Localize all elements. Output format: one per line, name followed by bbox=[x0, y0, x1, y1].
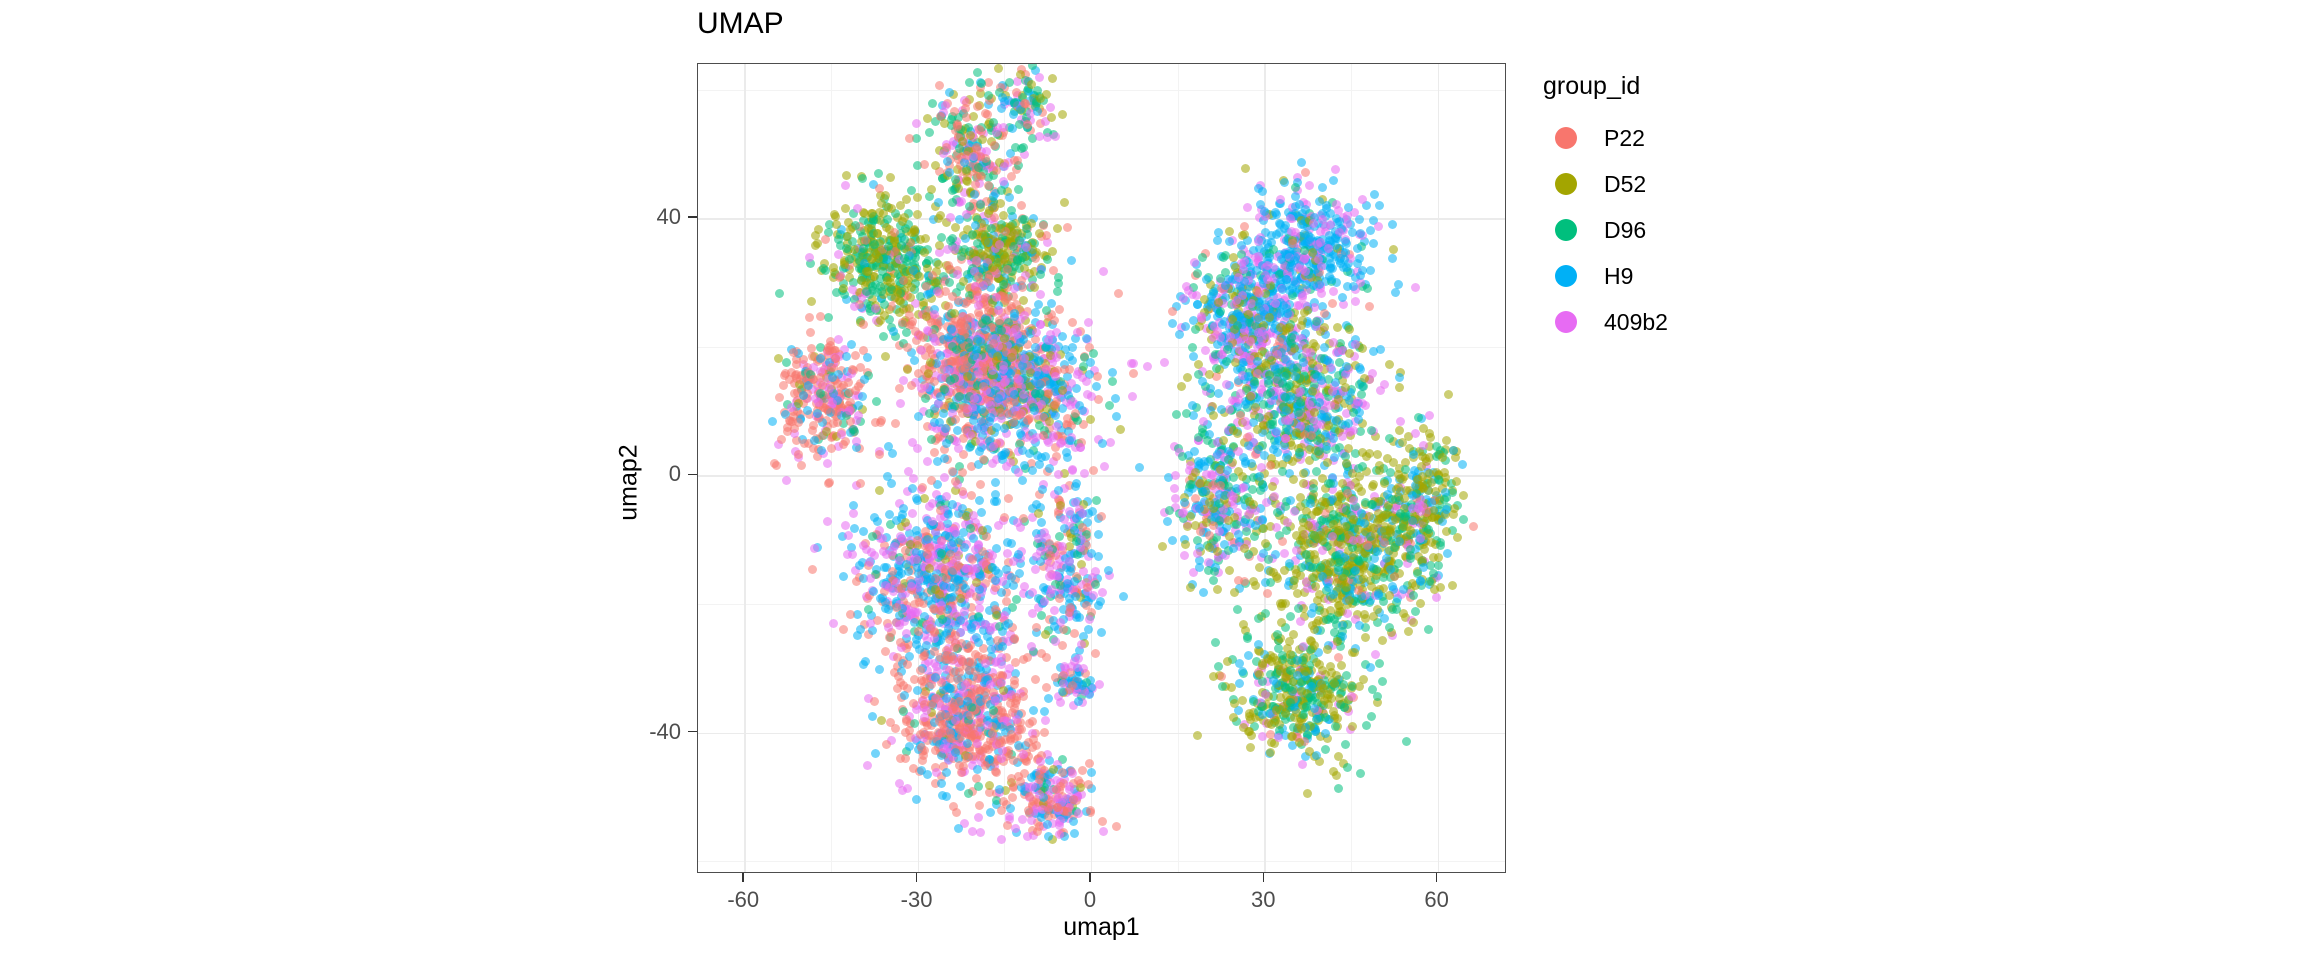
scatter-point bbox=[986, 808, 995, 817]
scatter-point bbox=[1018, 476, 1027, 485]
scatter-point bbox=[1010, 680, 1019, 689]
scatter-point bbox=[1023, 416, 1032, 425]
scatter-point bbox=[1097, 628, 1106, 637]
scatter-point bbox=[1014, 468, 1023, 477]
scatter-point bbox=[1012, 595, 1021, 604]
scatter-point bbox=[868, 712, 877, 721]
scatter-point bbox=[923, 770, 932, 779]
scatter-point bbox=[968, 555, 977, 564]
scatter-point bbox=[992, 128, 1001, 137]
scatter-point bbox=[977, 508, 986, 517]
scatter-point bbox=[1045, 380, 1054, 389]
scatter-point bbox=[1003, 717, 1012, 726]
scatter-point bbox=[854, 401, 863, 410]
scatter-point bbox=[970, 190, 979, 199]
scatter-point bbox=[912, 795, 921, 804]
scatter-point bbox=[940, 119, 949, 128]
scatter-point bbox=[803, 406, 812, 415]
scatter-point bbox=[1086, 358, 1095, 367]
scatter-point bbox=[1040, 528, 1049, 537]
scatter-point bbox=[908, 438, 917, 447]
scatter-point bbox=[794, 399, 803, 408]
scatter-point bbox=[942, 694, 951, 703]
scatter-point bbox=[775, 393, 784, 402]
scatter-point bbox=[1094, 601, 1103, 610]
scatter-point bbox=[903, 660, 912, 669]
scatter-point bbox=[931, 278, 940, 287]
scatter-point bbox=[1065, 352, 1074, 361]
scatter-point bbox=[849, 509, 858, 518]
scatter-point bbox=[984, 181, 993, 190]
scatter-point bbox=[782, 476, 791, 485]
scatter-point bbox=[1053, 224, 1062, 233]
scatter-point bbox=[1056, 501, 1065, 510]
scatter-point bbox=[1053, 803, 1062, 812]
scatter-point bbox=[1085, 759, 1094, 768]
scatter-point bbox=[1058, 542, 1067, 551]
scatter-point bbox=[827, 444, 836, 453]
scatter-point bbox=[925, 128, 934, 137]
scatter-point bbox=[1013, 374, 1022, 383]
scatter-point bbox=[927, 185, 936, 194]
scatter-point bbox=[1051, 400, 1060, 409]
scatter-point bbox=[956, 782, 965, 791]
scatter-point bbox=[868, 282, 877, 291]
scatter-point bbox=[909, 266, 918, 275]
scatter-point bbox=[845, 406, 854, 415]
scatter-point bbox=[988, 551, 997, 560]
scatter-point bbox=[1003, 538, 1012, 547]
scatter-point bbox=[811, 241, 820, 250]
scatter-point bbox=[990, 141, 999, 150]
scatter-point bbox=[937, 779, 946, 788]
scatter-point bbox=[973, 739, 982, 748]
scatter-point bbox=[1044, 389, 1053, 398]
scatter-point bbox=[956, 319, 965, 328]
scatter-point bbox=[913, 193, 922, 202]
scatter-point bbox=[994, 64, 1003, 73]
scatter-point bbox=[1331, 165, 1340, 174]
scatter-point bbox=[896, 201, 905, 210]
scatter-point bbox=[866, 574, 875, 583]
scatter-point bbox=[931, 694, 940, 703]
scatter-point bbox=[1006, 804, 1015, 813]
scatter-point bbox=[1275, 219, 1284, 228]
scatter-point bbox=[1301, 168, 1310, 177]
scatter-point bbox=[944, 712, 953, 721]
scatter-point bbox=[998, 642, 1007, 651]
scatter-point bbox=[1071, 482, 1080, 491]
scatter-point bbox=[1040, 707, 1049, 716]
scatter-point bbox=[1068, 397, 1077, 406]
scatter-point bbox=[870, 697, 879, 706]
scatter-point bbox=[890, 542, 899, 551]
scatter-point bbox=[986, 626, 995, 635]
scatter-point bbox=[886, 278, 895, 287]
scatter-point bbox=[896, 399, 905, 408]
scatter-point bbox=[1003, 265, 1012, 274]
scatter-point bbox=[899, 707, 908, 716]
scatter-point bbox=[844, 531, 853, 540]
scatter-point bbox=[923, 457, 932, 466]
scatter-point bbox=[1411, 283, 1420, 292]
scatter-point bbox=[900, 254, 909, 263]
scatter-point bbox=[1083, 583, 1092, 592]
scatter-point bbox=[1000, 334, 1009, 343]
scatter-point bbox=[1105, 401, 1114, 410]
scatter-point bbox=[1369, 239, 1378, 248]
scatter-point bbox=[881, 191, 890, 200]
scatter-point bbox=[998, 93, 1007, 102]
scatter-point bbox=[882, 740, 891, 749]
scatter-point bbox=[887, 479, 896, 488]
scatter-point bbox=[794, 418, 803, 427]
scatter-point bbox=[991, 696, 1000, 705]
scatter-point bbox=[1065, 436, 1074, 445]
scatter-point bbox=[1010, 284, 1019, 293]
scatter-point bbox=[901, 754, 910, 763]
scatter-point bbox=[1036, 94, 1045, 103]
scatter-point bbox=[1074, 697, 1083, 706]
scatter-point bbox=[1031, 308, 1040, 317]
scatter-point bbox=[918, 483, 927, 492]
scatter-point bbox=[951, 415, 960, 424]
scatter-point bbox=[961, 104, 970, 113]
scatter-point bbox=[925, 502, 934, 511]
scatter-point bbox=[874, 169, 883, 178]
scatter-point bbox=[851, 351, 860, 360]
scatter-point bbox=[1028, 717, 1037, 726]
scatter-point bbox=[1069, 817, 1078, 826]
scatter-point bbox=[877, 716, 886, 725]
scatter-point bbox=[912, 119, 921, 128]
scatter-point bbox=[978, 319, 987, 328]
scatter-point bbox=[1031, 675, 1040, 684]
scatter-point bbox=[1000, 513, 1009, 522]
scatter-point bbox=[879, 332, 888, 341]
scatter-point bbox=[863, 761, 872, 770]
scatter-point bbox=[876, 594, 885, 603]
scatter-point bbox=[976, 828, 985, 837]
scatter-point bbox=[1068, 466, 1077, 475]
scatter-point bbox=[981, 109, 990, 118]
scatter-point bbox=[832, 407, 841, 416]
scatter-point bbox=[881, 352, 890, 361]
scatter-point bbox=[902, 328, 911, 337]
scatter-point bbox=[997, 835, 1006, 844]
scatter-point bbox=[1329, 287, 1338, 296]
scatter-point bbox=[956, 616, 965, 625]
scatter-point bbox=[1315, 197, 1324, 206]
scatter-point bbox=[1060, 365, 1069, 374]
scatter-point bbox=[810, 436, 819, 445]
scatter-point bbox=[997, 754, 1006, 763]
scatter-point bbox=[984, 307, 993, 316]
scatter-point bbox=[1089, 349, 1098, 358]
scatter-point bbox=[991, 767, 1000, 776]
scatter-point bbox=[1099, 267, 1108, 276]
scatter-point bbox=[834, 335, 843, 344]
scatter-point bbox=[930, 310, 939, 319]
scatter-point bbox=[1023, 120, 1032, 129]
scatter-point bbox=[963, 739, 972, 748]
scatter-point bbox=[991, 576, 1000, 585]
scatter-point bbox=[1015, 569, 1024, 578]
scatter-point bbox=[945, 88, 954, 97]
scatter-point bbox=[1058, 332, 1067, 341]
scatter-point bbox=[1078, 766, 1087, 775]
scatter-point bbox=[928, 517, 937, 526]
scatter-point bbox=[963, 297, 972, 306]
scatter-point bbox=[1044, 694, 1053, 703]
scatter-point bbox=[1016, 70, 1025, 79]
scatter-point bbox=[1023, 832, 1032, 841]
scatter-point bbox=[1071, 409, 1080, 418]
scatter-point bbox=[913, 210, 922, 219]
scatter-point bbox=[1080, 469, 1089, 478]
scatter-point bbox=[1374, 222, 1383, 231]
scatter-point bbox=[942, 143, 951, 152]
scatter-point bbox=[900, 691, 909, 700]
scatter-point bbox=[974, 369, 983, 378]
scatter-point bbox=[991, 478, 1000, 487]
scatter-point bbox=[1054, 279, 1063, 288]
scatter-point bbox=[1053, 287, 1062, 296]
scatter-point bbox=[987, 224, 996, 233]
scatter-point bbox=[898, 786, 907, 795]
scatter-point bbox=[944, 333, 953, 342]
scatter-point bbox=[1098, 817, 1107, 826]
scatter-point bbox=[956, 335, 965, 344]
scatter-point bbox=[829, 619, 838, 628]
scatter-point bbox=[937, 537, 946, 546]
scatter-point bbox=[888, 449, 897, 458]
scatter-point bbox=[1025, 792, 1034, 801]
scatter-point bbox=[1082, 377, 1091, 386]
scatter-point bbox=[905, 311, 914, 320]
scatter-point bbox=[1070, 829, 1079, 838]
scatter-point bbox=[1028, 63, 1037, 70]
scatter-point bbox=[1029, 735, 1038, 744]
scatter-point bbox=[967, 491, 976, 500]
scatter-point bbox=[975, 801, 984, 810]
scatter-point bbox=[1305, 181, 1314, 190]
scatter-point bbox=[923, 114, 932, 123]
scatter-point bbox=[1116, 425, 1125, 434]
scatter-point bbox=[775, 289, 784, 298]
scatter-point bbox=[897, 584, 906, 593]
scatter-point bbox=[1070, 629, 1079, 638]
scatter-point bbox=[1017, 725, 1026, 734]
scatter-point bbox=[918, 756, 927, 765]
scatter-point bbox=[808, 565, 817, 574]
scatter-point bbox=[1050, 316, 1059, 325]
scatter-point bbox=[1050, 622, 1059, 631]
scatter-point bbox=[1098, 588, 1107, 597]
scatter-point bbox=[1119, 592, 1128, 601]
scatter-point bbox=[825, 478, 834, 487]
scatter-point bbox=[1018, 215, 1027, 224]
scatter-point bbox=[863, 353, 872, 362]
scatter-point bbox=[823, 517, 832, 526]
scatter-point bbox=[1100, 462, 1109, 471]
scatter-point bbox=[807, 297, 816, 306]
scatter-point bbox=[1052, 452, 1061, 461]
scatter-point bbox=[777, 435, 786, 444]
scatter-point bbox=[916, 235, 925, 244]
scatter-point bbox=[1048, 247, 1057, 256]
scatter-point bbox=[831, 354, 840, 363]
scatter-point bbox=[929, 604, 938, 613]
scatter-point bbox=[1095, 680, 1104, 689]
scatter-point bbox=[828, 373, 837, 382]
scatter-point bbox=[839, 625, 848, 634]
scatter-point bbox=[1086, 415, 1095, 424]
scatter-point bbox=[1054, 470, 1063, 479]
scatter-point bbox=[892, 603, 901, 612]
scatter-point bbox=[941, 101, 950, 110]
scatter-point bbox=[1091, 580, 1100, 589]
scatter-point bbox=[898, 510, 907, 519]
scatter-point bbox=[882, 223, 891, 232]
scatter-point bbox=[940, 454, 949, 463]
scatter-point bbox=[1086, 806, 1095, 815]
scatter-point bbox=[1097, 512, 1106, 521]
scatter-point bbox=[976, 480, 985, 489]
scatter-point bbox=[954, 824, 963, 833]
scatter-point bbox=[945, 278, 954, 287]
scatter-point bbox=[948, 186, 957, 195]
scatter-point bbox=[839, 572, 848, 581]
scatter-point bbox=[1012, 693, 1021, 702]
scatter-point bbox=[905, 134, 914, 143]
scatter-point bbox=[1050, 606, 1059, 615]
scatter-point bbox=[1366, 226, 1375, 235]
scatter-point bbox=[986, 401, 995, 410]
scatter-point bbox=[1106, 438, 1115, 447]
scatter-point bbox=[1143, 362, 1152, 371]
scatter-point bbox=[875, 486, 884, 495]
scatter-point bbox=[1092, 496, 1101, 505]
scatter-point bbox=[927, 476, 936, 485]
scatter-point bbox=[1010, 390, 1019, 399]
scatter-point bbox=[1013, 518, 1022, 527]
scatter-point bbox=[1035, 790, 1044, 799]
scatter-point bbox=[1016, 338, 1025, 347]
scatter-point bbox=[878, 267, 887, 276]
scatter-point bbox=[986, 680, 995, 689]
scatter-point bbox=[821, 235, 830, 244]
scatter-point bbox=[903, 343, 912, 352]
scatter-points bbox=[698, 64, 1505, 872]
scatter-point bbox=[882, 550, 891, 559]
scatter-point bbox=[1058, 110, 1067, 119]
scatter-point bbox=[986, 413, 995, 422]
scatter-point bbox=[1033, 827, 1042, 836]
scatter-point bbox=[989, 442, 998, 451]
scatter-point bbox=[1068, 318, 1077, 327]
scatter-point bbox=[841, 181, 850, 190]
scatter-point bbox=[1370, 190, 1379, 199]
scatter-point bbox=[1036, 290, 1045, 299]
scatter-point bbox=[920, 160, 929, 169]
scatter-point bbox=[910, 225, 919, 234]
scatter-point bbox=[1046, 551, 1055, 560]
scatter-point bbox=[974, 782, 983, 791]
scatter-point bbox=[867, 255, 876, 264]
scatter-point bbox=[1045, 464, 1054, 473]
scatter-point bbox=[1041, 716, 1050, 725]
scatter-point bbox=[1045, 564, 1054, 573]
scatter-point bbox=[1016, 429, 1025, 438]
scatter-point bbox=[768, 417, 777, 426]
scatter-point bbox=[967, 689, 976, 698]
scatter-point bbox=[1114, 289, 1123, 298]
scatter-point bbox=[1084, 780, 1093, 789]
scatter-point bbox=[1034, 509, 1043, 518]
scatter-point bbox=[823, 459, 832, 468]
scatter-point bbox=[1055, 305, 1064, 314]
scatter-point bbox=[1047, 113, 1056, 122]
scatter-point bbox=[901, 518, 910, 527]
scatter-point bbox=[921, 394, 930, 403]
scatter-point bbox=[1063, 453, 1072, 462]
scatter-point bbox=[962, 113, 971, 122]
scatter-point bbox=[1055, 594, 1064, 603]
scatter-point bbox=[830, 210, 839, 219]
scatter-point bbox=[989, 706, 998, 715]
scatter-point bbox=[899, 376, 908, 385]
scatter-point bbox=[1011, 325, 1020, 334]
scatter-point bbox=[994, 306, 1003, 315]
scatter-point bbox=[973, 335, 982, 344]
scatter-point bbox=[958, 137, 967, 146]
scatter-point bbox=[1037, 518, 1046, 527]
scatter-point bbox=[842, 171, 851, 180]
scatter-point bbox=[1007, 172, 1016, 181]
scatter-point bbox=[987, 645, 996, 654]
scatter-point bbox=[1388, 254, 1397, 263]
scatter-point bbox=[966, 711, 975, 720]
scatter-point bbox=[868, 532, 877, 541]
scatter-point bbox=[895, 384, 904, 393]
scatter-point bbox=[965, 78, 974, 87]
scatter-point bbox=[886, 173, 895, 182]
scatter-point bbox=[889, 327, 898, 336]
scatter-point bbox=[807, 344, 816, 353]
scatter-point bbox=[926, 358, 935, 367]
scatter-point bbox=[880, 300, 889, 309]
scatter-point bbox=[935, 81, 944, 90]
scatter-point bbox=[966, 641, 975, 650]
scatter-point bbox=[1067, 256, 1076, 265]
scatter-point bbox=[1091, 649, 1100, 658]
scatter-point bbox=[916, 666, 925, 675]
scatter-point bbox=[1084, 318, 1093, 327]
scatter-point bbox=[934, 198, 943, 207]
scatter-point bbox=[1329, 176, 1338, 185]
scatter-point bbox=[846, 610, 855, 619]
scatter-point bbox=[954, 296, 963, 305]
scatter-point bbox=[772, 461, 781, 470]
scatter-point bbox=[977, 79, 986, 88]
scatter-point bbox=[1036, 547, 1045, 556]
scatter-point bbox=[890, 228, 899, 237]
scatter-point bbox=[814, 398, 823, 407]
scatter-point bbox=[1099, 827, 1108, 836]
scatter-point bbox=[852, 437, 861, 446]
scatter-point bbox=[1005, 193, 1014, 202]
